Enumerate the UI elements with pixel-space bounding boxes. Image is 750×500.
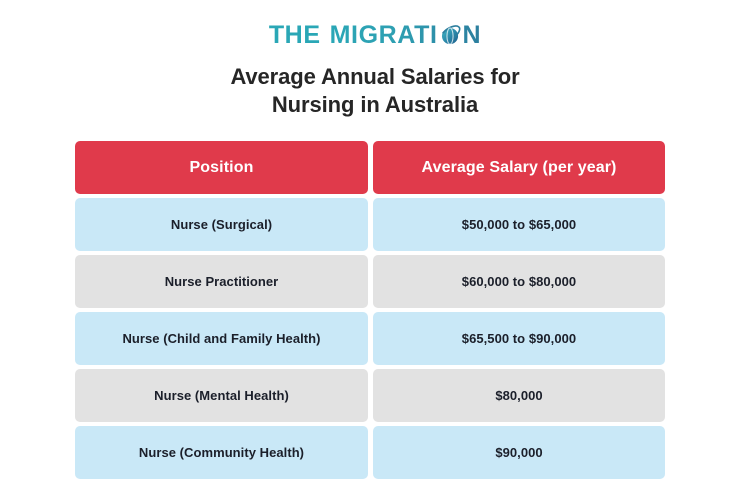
cell-salary: $90,000 <box>373 426 665 479</box>
table-row: Nurse (Child and Family Health) $65,500 … <box>75 312 665 365</box>
globe-orbit-icon <box>439 24 462 47</box>
table-row: Nurse (Community Health) $90,000 <box>75 426 665 479</box>
cell-position: Nurse (Child and Family Health) <box>75 312 368 365</box>
infographic-page: THE MIGRATI N <box>0 0 750 500</box>
table-row: Nurse (Surgical) $50,000 to $65,000 <box>75 198 665 251</box>
cell-salary: $50,000 to $65,000 <box>373 198 665 251</box>
brand-migration-part1: MIGRATI <box>330 21 438 50</box>
cell-salary: $60,000 to $80,000 <box>373 255 665 308</box>
brand-migration-text: MIGRATI N <box>330 21 482 50</box>
brand-migration-part2: N <box>463 21 482 50</box>
table-row: Nurse (Mental Health) $80,000 <box>75 369 665 422</box>
cell-position: Nurse (Community Health) <box>75 426 368 479</box>
cell-salary: $80,000 <box>373 369 665 422</box>
column-header-position: Position <box>75 141 368 194</box>
page-title-line1: Average Annual Salaries for <box>230 64 519 89</box>
salary-table: Position Average Salary (per year) Nurse… <box>75 141 665 479</box>
page-title: Average Annual Salaries for Nursing in A… <box>0 63 750 119</box>
cell-position: Nurse (Mental Health) <box>75 369 368 422</box>
cell-position: Nurse Practitioner <box>75 255 368 308</box>
cell-salary: $65,500 to $90,000 <box>373 312 665 365</box>
page-title-line2: Nursing in Australia <box>0 91 750 119</box>
table-header-row: Position Average Salary (per year) <box>75 141 665 194</box>
brand-logo: THE MIGRATI N <box>0 18 750 52</box>
table-row: Nurse Practitioner $60,000 to $80,000 <box>75 255 665 308</box>
cell-position: Nurse (Surgical) <box>75 198 368 251</box>
column-header-salary: Average Salary (per year) <box>373 141 665 194</box>
brand-the-text: THE <box>269 21 321 50</box>
